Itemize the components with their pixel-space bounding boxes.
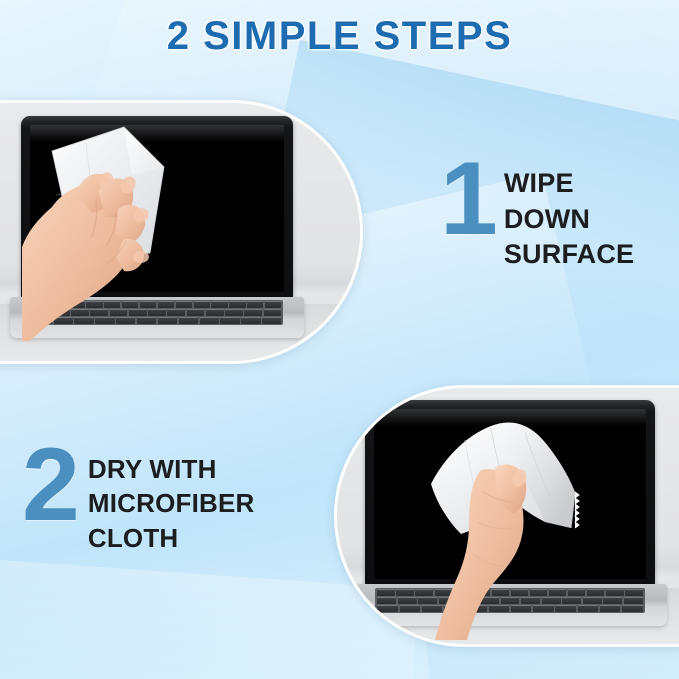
keyboard-key <box>396 589 413 596</box>
step-2-number: 2 <box>22 438 80 534</box>
keyboard-key <box>578 605 599 612</box>
keyboard-key <box>625 589 642 596</box>
keyboard-key <box>265 301 281 308</box>
keyboard-key <box>377 597 396 604</box>
keyboard-key <box>262 317 281 324</box>
keyboard-key <box>200 317 219 324</box>
keyboard-key <box>624 597 643 604</box>
step-2-line-1: DRY WITH <box>88 452 255 486</box>
keyboard-key <box>562 597 581 604</box>
keyboard-key <box>229 301 245 308</box>
keyboard-key <box>377 605 398 612</box>
keyboard-key <box>600 605 621 612</box>
keyboard-key <box>187 309 205 316</box>
keyboard-key <box>587 589 604 596</box>
step-2-line-2: MICROFIBER <box>88 486 255 520</box>
keyboard-key <box>398 597 417 604</box>
infographic-root: 2 SIMPLE STEPS <box>0 0 679 679</box>
keyboard-key <box>176 301 192 308</box>
keyboard-key <box>555 605 576 612</box>
keyboard-key <box>603 597 622 604</box>
step-1-text-block: 1 WIPE DOWN SURFACE <box>440 158 634 273</box>
keyboard-key <box>606 589 623 596</box>
keyboard-key <box>377 589 394 596</box>
keyboard-key <box>264 309 282 316</box>
hand-icon <box>22 151 172 341</box>
step-2-text-block: 2 DRY WITH MICROFIBER CLOTH <box>22 444 255 555</box>
step-1-lines: WIPE DOWN SURFACE <box>504 158 634 273</box>
step-1-line-3: SURFACE <box>504 237 634 273</box>
keyboard-key <box>583 597 602 604</box>
step-2-line-3: CLOTH <box>88 521 255 555</box>
keyboard-key <box>568 589 585 596</box>
page-title: 2 SIMPLE STEPS <box>0 14 679 59</box>
keyboard-key <box>225 309 243 316</box>
step-1-line-1: WIPE <box>504 166 634 202</box>
keyboard-key <box>194 301 210 308</box>
step-1-photo-panel <box>0 100 363 364</box>
keyboard-key <box>244 309 262 316</box>
hand-icon <box>435 450 555 640</box>
keyboard-key <box>241 317 260 324</box>
keyboard-key <box>400 605 421 612</box>
keyboard-key <box>247 301 263 308</box>
keyboard-key <box>415 589 432 596</box>
step-1-line-2: DOWN <box>504 202 634 238</box>
keyboard-key <box>622 605 643 612</box>
keyboard-key <box>220 317 239 324</box>
keyboard-key <box>206 309 224 316</box>
step-2-lines: DRY WITH MICROFIBER CLOTH <box>88 444 255 555</box>
keyboard-key <box>211 301 227 308</box>
keyboard-key <box>179 317 198 324</box>
step-1-number: 1 <box>440 152 498 248</box>
step-2-photo-panel <box>334 385 679 647</box>
